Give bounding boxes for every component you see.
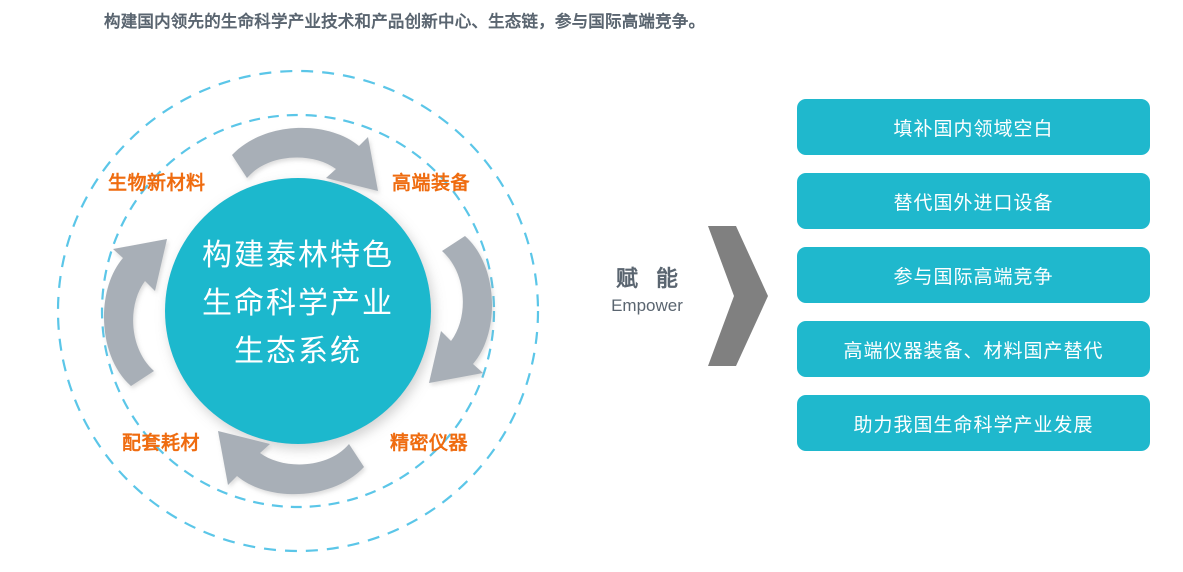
outcome-box-3[interactable]: 参与国际高端竞争 [797, 247, 1150, 303]
outcome-box-2[interactable]: 替代国外进口设备 [797, 173, 1150, 229]
cycle-arrow-right [429, 236, 492, 383]
outcome-box-5[interactable]: 助力我国生命科学产业发展 [797, 395, 1150, 451]
quadrant-label-biomaterial: 生物新材料 [108, 168, 206, 195]
empower-label-cn: 赋 能 [592, 265, 702, 293]
core-text-line-2: 生命科学产业 [202, 287, 394, 320]
chevron-right-icon [704, 226, 772, 366]
ecosystem-cycle-diagram: 构建泰林特色 生命科学产业 生态系统 [10, 58, 590, 570]
cycle-arrow-left [104, 239, 167, 386]
quadrant-label-instrument: 精密仪器 [390, 428, 468, 455]
empower-block: 赋 能 Empower [592, 265, 702, 317]
empower-label-en: Empower [592, 295, 702, 317]
quadrant-label-equipment: 高端装备 [392, 168, 470, 195]
page-headline: 构建国内领先的生命科学产业技术和产品创新中心、生态链，参与国际高端竞争。 [104, 8, 705, 32]
quadrant-label-consumable: 配套耗材 [122, 428, 200, 455]
outcome-list: 填补国内领域空白 替代国外进口设备 参与国际高端竞争 高端仪器装备、材料国产替代… [797, 99, 1150, 451]
outcome-box-4[interactable]: 高端仪器装备、材料国产替代 [797, 321, 1150, 377]
core-text-line-3: 生态系统 [234, 335, 362, 368]
outcome-box-1[interactable]: 填补国内领域空白 [797, 99, 1150, 155]
core-text-line-1: 构建泰林特色 [202, 239, 394, 272]
